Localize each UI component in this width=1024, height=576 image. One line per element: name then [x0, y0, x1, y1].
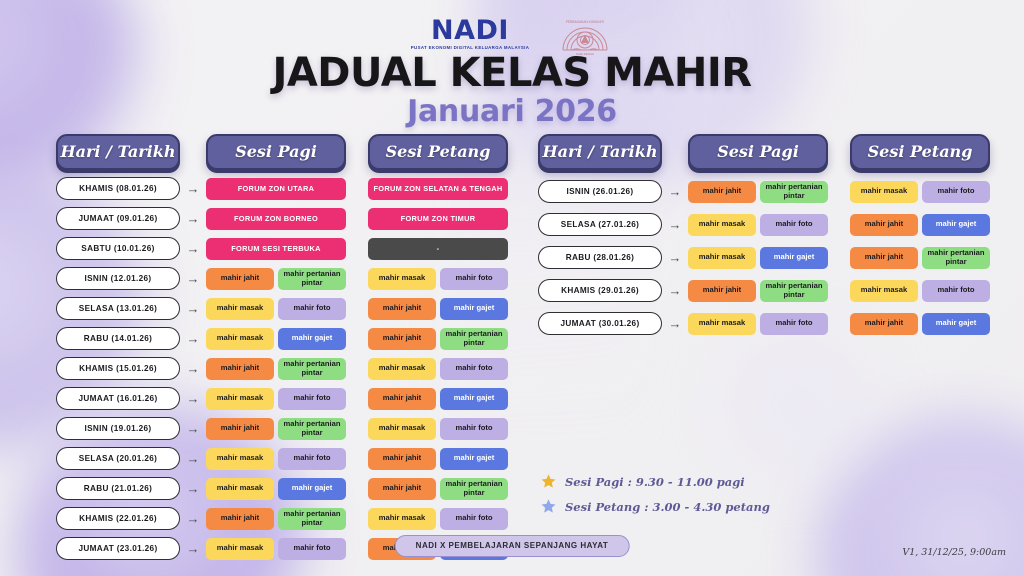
- forum-pill[interactable]: FORUM SESI TERBUKA: [206, 238, 346, 260]
- class-pill[interactable]: mahir masak: [206, 388, 274, 410]
- table-row: ISNIN (19.01.26)→mahir jahitmahir pertan…: [56, 417, 508, 440]
- table-row: KHAMIS (08.01.26)→FORUM ZON UTARAFORUM Z…: [56, 177, 508, 200]
- evening-session-cell: -: [368, 238, 508, 260]
- arrow-right-icon: →: [180, 332, 206, 345]
- table-row: ISNIN (26.01.26)→mahir jahitmahir pertan…: [538, 180, 990, 203]
- table-row: KHAMIS (15.01.26)→mahir jahitmahir perta…: [56, 357, 508, 380]
- evening-session-cell: mahir jahitmahir gajet: [368, 448, 508, 470]
- morning-session-cell: mahir masakmahir gajet: [206, 328, 346, 350]
- column-header-day: Hari / Tarikh: [56, 134, 180, 170]
- morning-session-cell: mahir masakmahir foto: [206, 538, 346, 560]
- arrow-right-icon: →: [180, 272, 206, 285]
- class-pill[interactable]: mahir masak: [688, 247, 756, 269]
- schedule-table-right: Hari / Tarikh Sesi Pagi Sesi Petang ISNI…: [538, 134, 990, 335]
- table-row: JUMAAT (09.01.26)→FORUM ZON BORNEOFORUM …: [56, 207, 508, 230]
- arrow-right-icon: →: [180, 302, 206, 315]
- arrow-right-icon: →: [180, 212, 206, 225]
- class-pill[interactable]: mahir pertanian pintar: [760, 181, 828, 203]
- class-pill[interactable]: mahir foto: [278, 388, 346, 410]
- arrow-right-icon: →: [180, 182, 206, 195]
- day-date-cell[interactable]: RABU (21.01.26): [56, 477, 180, 500]
- class-pill[interactable]: mahir masak: [368, 508, 436, 530]
- evening-session-cell: mahir jahitmahir gajet: [368, 298, 508, 320]
- day-date-cell[interactable]: JUMAAT (09.01.26): [56, 207, 180, 230]
- forum-pill[interactable]: FORUM ZON UTARA: [206, 178, 346, 200]
- arrow-right-icon: →: [662, 185, 688, 198]
- morning-session-cell: mahir masakmahir gajet: [688, 247, 828, 269]
- class-pill[interactable]: mahir pertanian pintar: [440, 478, 508, 500]
- class-pill[interactable]: mahir jahit: [368, 328, 436, 350]
- class-pill[interactable]: mahir masak: [206, 478, 274, 500]
- morning-session-cell: mahir jahitmahir pertanian pintar: [688, 181, 828, 203]
- class-pill[interactable]: mahir masak: [206, 328, 274, 350]
- evening-session-cell: FORUM ZON SELATAN & TENGAH: [368, 178, 508, 200]
- table-row: RABU (14.01.26)→mahir masakmahir gajetma…: [56, 327, 508, 350]
- column-header-morning: Sesi Pagi: [688, 134, 828, 170]
- table-row: KHAMIS (29.01.26)→mahir jahitmahir perta…: [538, 279, 990, 302]
- table-body-right: ISNIN (26.01.26)→mahir jahitmahir pertan…: [538, 180, 990, 335]
- evening-session-cell: mahir jahitmahir gajet: [850, 313, 990, 335]
- table-row: JUMAAT (30.01.26)→mahir masakmahir fotom…: [538, 312, 990, 335]
- class-pill[interactable]: mahir gajet: [278, 478, 346, 500]
- session-time-legend: Sesi Pagi : 9.30 - 11.00 pagiSesi Petang…: [540, 473, 770, 523]
- class-pill[interactable]: mahir gajet: [440, 448, 508, 470]
- day-date-cell[interactable]: ISNIN (26.01.26): [538, 180, 662, 203]
- day-date-cell[interactable]: KHAMIS (15.01.26): [56, 357, 180, 380]
- class-pill[interactable]: mahir masak: [206, 538, 274, 560]
- table-header-row: Hari / Tarikh Sesi Pagi Sesi Petang: [56, 134, 508, 170]
- arrow-right-icon: →: [662, 218, 688, 231]
- morning-session-cell: mahir masakmahir foto: [688, 214, 828, 236]
- class-pill[interactable]: mahir foto: [440, 358, 508, 380]
- evening-session-cell: mahir masakmahir foto: [368, 418, 508, 440]
- footer-tagline: NADI X PEMBELAJARAN SEPANJANG HAYAT: [395, 535, 630, 557]
- arrow-right-icon: →: [662, 284, 688, 297]
- day-date-cell[interactable]: SELASA (13.01.26): [56, 297, 180, 320]
- class-pill[interactable]: mahir jahit: [850, 313, 918, 335]
- schedule-table-left: Hari / Tarikh Sesi Pagi Sesi Petang KHAM…: [56, 134, 508, 560]
- evening-session-cell: mahir jahitmahir gajet: [850, 214, 990, 236]
- poster-canvas: NADI PUSAT EKONOMI DIGITAL KELUARGA MALA…: [0, 0, 1024, 576]
- class-pill[interactable]: mahir gajet: [922, 214, 990, 236]
- day-date-cell[interactable]: JUMAAT (23.01.26): [56, 537, 180, 560]
- class-pill[interactable]: mahir masak: [368, 268, 436, 290]
- table-row: SELASA (20.01.26)→mahir masakmahir fotom…: [56, 447, 508, 470]
- evening-session-cell: mahir masakmahir foto: [368, 508, 508, 530]
- class-pill[interactable]: mahir jahit: [368, 448, 436, 470]
- day-date-cell[interactable]: RABU (28.01.26): [538, 246, 662, 269]
- class-pill[interactable]: mahir jahit: [850, 214, 918, 236]
- morning-session-cell: mahir jahitmahir pertanian pintar: [688, 280, 828, 302]
- class-pill[interactable]: mahir pertanian pintar: [278, 508, 346, 530]
- class-pill[interactable]: mahir foto: [440, 268, 508, 290]
- class-pill[interactable]: mahir pertanian pintar: [278, 418, 346, 440]
- evening-session-cell: mahir masakmahir foto: [368, 358, 508, 380]
- arrow-right-icon: →: [662, 251, 688, 264]
- day-date-cell[interactable]: KHAMIS (29.01.26): [538, 279, 662, 302]
- morning-session-cell: mahir jahitmahir pertanian pintar: [206, 508, 346, 530]
- page-title: JADUAL KELAS MAHIR: [0, 50, 1024, 96]
- version-stamp: V1, 31/12/25, 9:00am: [902, 547, 1006, 558]
- class-pill[interactable]: mahir masak: [206, 298, 274, 320]
- morning-session-cell: mahir jahitmahir pertanian pintar: [206, 358, 346, 380]
- evening-session-cell: mahir masakmahir foto: [850, 280, 990, 302]
- morning-session-cell: mahir masakmahir foto: [206, 388, 346, 410]
- column-header-evening: Sesi Petang: [368, 134, 508, 170]
- class-pill[interactable]: mahir pertanian pintar: [922, 247, 990, 269]
- morning-session-cell: mahir masakmahir foto: [206, 448, 346, 470]
- arrow-right-icon: →: [180, 542, 206, 555]
- column-header-day: Hari / Tarikh: [538, 134, 662, 170]
- class-pill[interactable]: mahir jahit: [206, 268, 274, 290]
- class-pill[interactable]: mahir foto: [440, 418, 508, 440]
- class-pill[interactable]: mahir masak: [688, 214, 756, 236]
- table-row: ISNIN (12.01.26)→mahir jahitmahir pertan…: [56, 267, 508, 290]
- class-pill[interactable]: mahir masak: [850, 181, 918, 203]
- class-pill[interactable]: mahir gajet: [440, 388, 508, 410]
- class-pill[interactable]: mahir jahit: [368, 298, 436, 320]
- evening-session-cell: mahir masakmahir foto: [368, 268, 508, 290]
- class-pill[interactable]: mahir pertanian pintar: [440, 328, 508, 350]
- day-date-cell[interactable]: SABTU (10.01.26): [56, 237, 180, 260]
- arrow-right-icon: →: [180, 482, 206, 495]
- svg-text:PERBADANAN KOMUNITI: PERBADANAN KOMUNITI: [566, 20, 605, 24]
- morning-session-cell: mahir masakmahir gajet: [206, 478, 346, 500]
- day-date-cell[interactable]: JUMAAT (30.01.26): [538, 312, 662, 335]
- table-body-left: KHAMIS (08.01.26)→FORUM ZON UTARAFORUM Z…: [56, 177, 508, 560]
- star-icon: [540, 473, 557, 490]
- class-pill[interactable]: mahir masak: [688, 313, 756, 335]
- arrow-right-icon: →: [180, 392, 206, 405]
- legend-item: Sesi Pagi : 9.30 - 11.00 pagi: [540, 473, 770, 490]
- evening-session-cell: FORUM ZON TIMUR: [368, 208, 508, 230]
- class-pill[interactable]: mahir foto: [760, 313, 828, 335]
- class-pill[interactable]: mahir jahit: [368, 478, 436, 500]
- arrow-right-icon: →: [180, 422, 206, 435]
- column-header-evening: Sesi Petang: [850, 134, 990, 170]
- table-row: RABU (28.01.26)→mahir masakmahir gajetma…: [538, 246, 990, 269]
- nadi-wordmark: NADI: [431, 17, 509, 44]
- table-row: SELASA (13.01.26)→mahir masakmahir fotom…: [56, 297, 508, 320]
- day-date-cell[interactable]: KHAMIS (08.01.26): [56, 177, 180, 200]
- table-row: SELASA (27.01.26)→mahir masakmahir fotom…: [538, 213, 990, 236]
- star-icon: [540, 498, 557, 515]
- table-row: KHAMIS (22.01.26)→mahir jahitmahir perta…: [56, 507, 508, 530]
- class-pill[interactable]: mahir jahit: [688, 181, 756, 203]
- legend-label: Sesi Petang : 3.00 - 4.30 petang: [565, 500, 770, 514]
- page-subtitle: Januari 2026: [0, 94, 1024, 129]
- morning-session-cell: mahir masakmahir foto: [206, 298, 346, 320]
- evening-session-cell: mahir jahitmahir gajet: [368, 388, 508, 410]
- day-date-cell[interactable]: ISNIN (12.01.26): [56, 267, 180, 290]
- class-pill[interactable]: mahir jahit: [368, 388, 436, 410]
- class-pill[interactable]: mahir pertanian pintar: [760, 280, 828, 302]
- day-date-cell[interactable]: ISNIN (19.01.26): [56, 417, 180, 440]
- class-pill[interactable]: mahir pertanian pintar: [278, 358, 346, 380]
- legend-label: Sesi Pagi : 9.30 - 11.00 pagi: [565, 475, 745, 489]
- day-date-cell[interactable]: SELASA (27.01.26): [538, 213, 662, 236]
- class-pill[interactable]: mahir jahit: [206, 358, 274, 380]
- class-pill[interactable]: mahir jahit: [206, 418, 274, 440]
- arrow-right-icon: →: [662, 317, 688, 330]
- arrow-right-icon: →: [180, 242, 206, 255]
- class-pill[interactable]: mahir gajet: [922, 313, 990, 335]
- table-header-row: Hari / Tarikh Sesi Pagi Sesi Petang: [538, 134, 990, 170]
- evening-session-cell: mahir jahitmahir pertanian pintar: [850, 247, 990, 269]
- class-pill[interactable]: mahir foto: [922, 181, 990, 203]
- class-pill[interactable]: mahir jahit: [206, 508, 274, 530]
- morning-session-cell: FORUM ZON UTARA: [206, 178, 346, 200]
- arrow-right-icon: →: [180, 452, 206, 465]
- evening-session-cell: mahir jahitmahir pertanian pintar: [368, 328, 508, 350]
- table-row: RABU (21.01.26)→mahir masakmahir gajetma…: [56, 477, 508, 500]
- class-pill[interactable]: mahir masak: [368, 418, 436, 440]
- class-pill[interactable]: mahir foto: [278, 538, 346, 560]
- day-date-cell[interactable]: JUMAAT (16.01.26): [56, 387, 180, 410]
- class-pill[interactable]: mahir masak: [368, 358, 436, 380]
- morning-session-cell: mahir jahitmahir pertanian pintar: [206, 268, 346, 290]
- evening-session-cell: mahir masakmahir foto: [850, 181, 990, 203]
- evening-session-cell: mahir jahitmahir pertanian pintar: [368, 478, 508, 500]
- morning-session-cell: FORUM ZON BORNEO: [206, 208, 346, 230]
- class-pill[interactable]: mahir masak: [206, 448, 274, 470]
- class-pill[interactable]: mahir gajet: [440, 298, 508, 320]
- forum-pill[interactable]: FORUM ZON BORNEO: [206, 208, 346, 230]
- class-pill[interactable]: mahir foto: [760, 214, 828, 236]
- morning-session-cell: FORUM SESI TERBUKA: [206, 238, 346, 260]
- class-pill[interactable]: mahir jahit: [850, 247, 918, 269]
- column-header-morning: Sesi Pagi: [206, 134, 346, 170]
- class-pill[interactable]: mahir foto: [278, 448, 346, 470]
- forum-pill[interactable]: FORUM ZON SELATAN & TENGAH: [368, 178, 508, 200]
- forum-pill[interactable]: -: [368, 238, 508, 260]
- class-pill[interactable]: mahir masak: [850, 280, 918, 302]
- arrow-right-icon: →: [180, 362, 206, 375]
- class-pill[interactable]: mahir foto: [922, 280, 990, 302]
- table-row: JUMAAT (16.01.26)→mahir masakmahir fotom…: [56, 387, 508, 410]
- day-date-cell[interactable]: SELASA (20.01.26): [56, 447, 180, 470]
- class-pill[interactable]: mahir jahit: [688, 280, 756, 302]
- nadi-logo: NADI PUSAT EKONOMI DIGITAL KELUARGA MALA…: [411, 17, 529, 50]
- morning-session-cell: mahir masakmahir foto: [688, 313, 828, 335]
- arrow-right-icon: →: [180, 512, 206, 525]
- class-pill[interactable]: mahir gajet: [278, 328, 346, 350]
- class-pill[interactable]: mahir gajet: [760, 247, 828, 269]
- morning-session-cell: mahir jahitmahir pertanian pintar: [206, 418, 346, 440]
- class-pill[interactable]: mahir foto: [278, 298, 346, 320]
- class-pill[interactable]: mahir pertanian pintar: [278, 268, 346, 290]
- table-row: SABTU (10.01.26)→FORUM SESI TERBUKA-: [56, 237, 508, 260]
- legend-item: Sesi Petang : 3.00 - 4.30 petang: [540, 498, 770, 515]
- forum-pill[interactable]: FORUM ZON TIMUR: [368, 208, 508, 230]
- day-date-cell[interactable]: RABU (14.01.26): [56, 327, 180, 350]
- day-date-cell[interactable]: KHAMIS (22.01.26): [56, 507, 180, 530]
- class-pill[interactable]: mahir foto: [440, 508, 508, 530]
